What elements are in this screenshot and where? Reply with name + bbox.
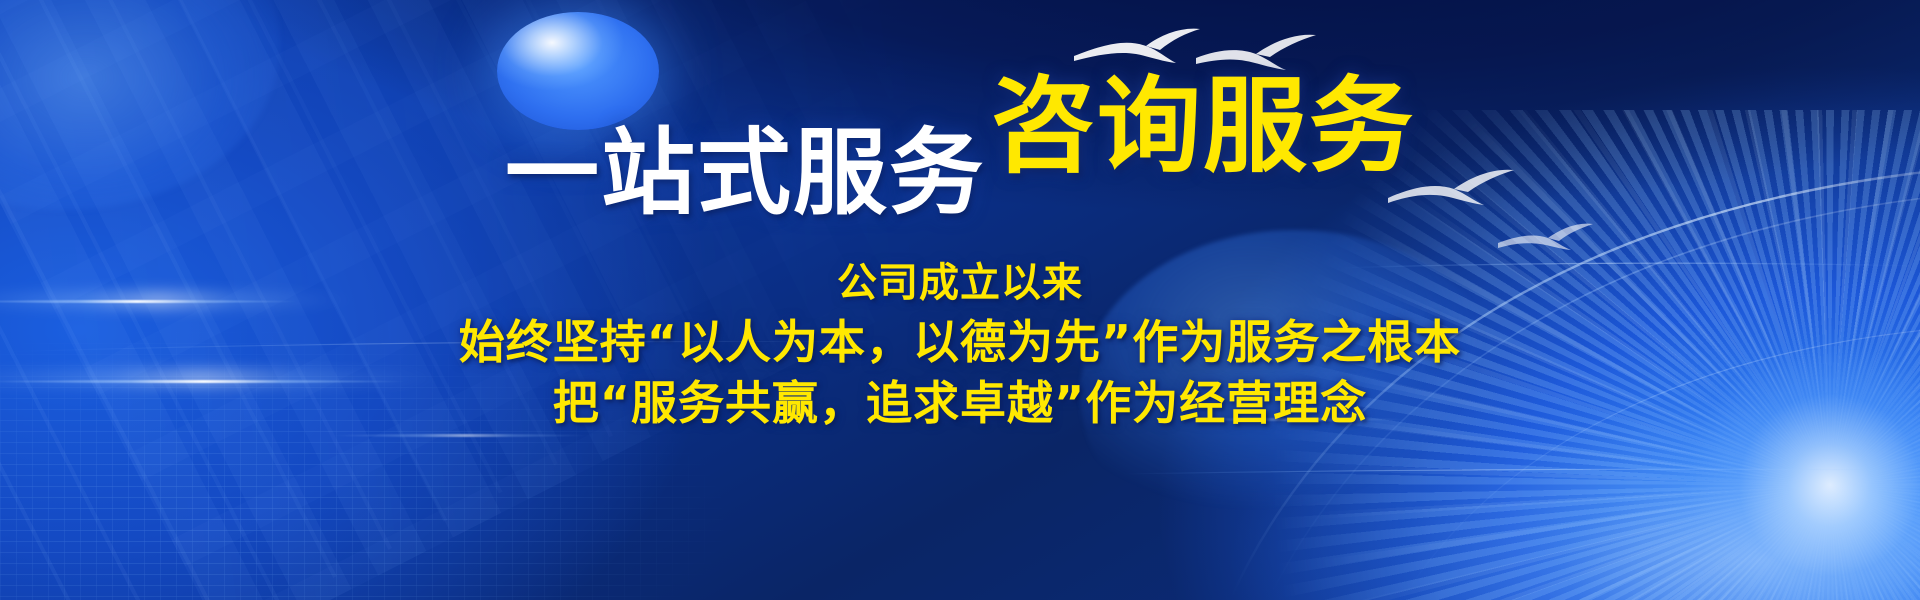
body-copy: 公司成立以来 始终坚持“以人为本，以德为先”作为服务之根本 把“服务共赢，追求卓… (0, 258, 1920, 433)
headline-row: 一站式服务 咨询服务 (0, 78, 1920, 218)
seagull-4-icon (1498, 236, 1571, 250)
body-line-2: 始终坚持“以人为本，以德为先”作为服务之根本 (0, 313, 1920, 372)
seagull-4-wing-icon (1548, 224, 1593, 241)
body-line-1: 公司成立以来 (0, 258, 1920, 309)
seagull-1-icon (1074, 43, 1176, 63)
light-streak-3 (330, 434, 590, 437)
body-line-3: 把“服务共赢，追求卓越”作为经营理念 (0, 374, 1920, 433)
seagull-2-wing-icon (1256, 35, 1316, 57)
headline-accent: 咨询服务 (991, 74, 1415, 178)
seagull-1-wing-icon (1146, 29, 1200, 50)
promotional-banner: 一站式服务 咨询服务 公司成立以来 始终坚持“以人为本，以德为先”作为服务之根本… (0, 0, 1920, 600)
headline-main: 一站式服务 (505, 127, 985, 221)
